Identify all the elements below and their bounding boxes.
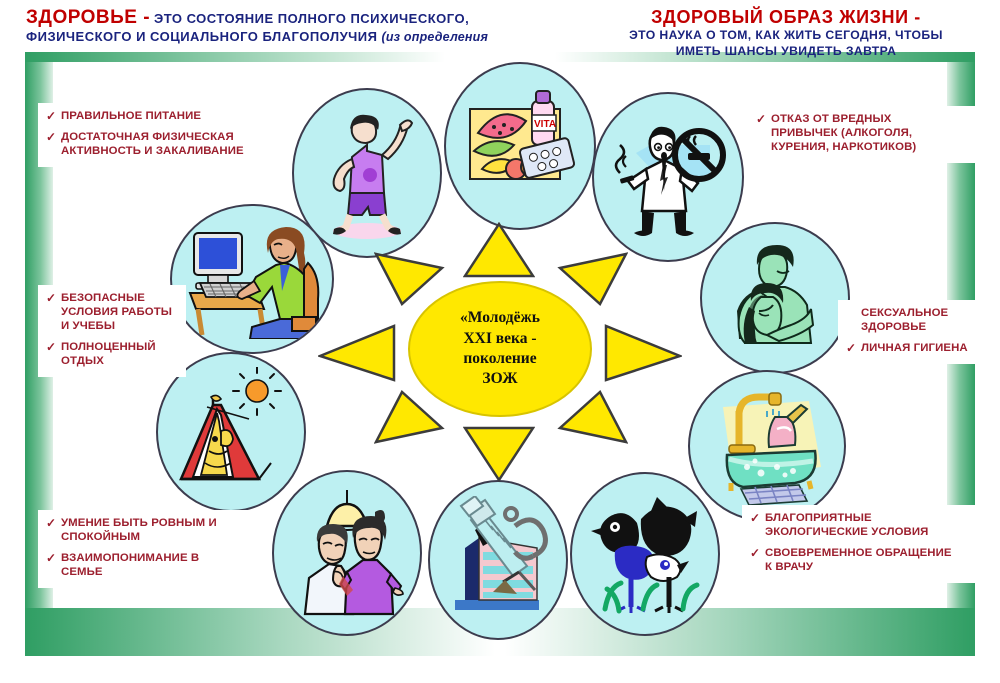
header-left-body: ЭТО СОСТОЯНИЕ ПОЛНОГО ПСИХИЧЕСКОГО, xyxy=(154,11,469,26)
bullet-item: ✓УМЕНИЕ БЫТЬ РОВНЫМ И СПОКОЙНЫМ xyxy=(46,517,243,545)
bathtub-shower-icon xyxy=(703,383,831,509)
bullet-text: ОТКАЗ ОТ ВРЕДНЫХ ПРИВЫЧЕК (АЛКОГОЛЯ, КУР… xyxy=(771,113,916,155)
panel-bottom-left-list: ✓УМЕНИЕ БЫТЬ РОВНЫМ И СПОКОЙНЫМ✓ВЗАИМОПО… xyxy=(46,517,243,580)
center-slogan: «Молодёжь XXI века - поколение ЗОЖ xyxy=(460,308,540,390)
check-icon: ✓ xyxy=(46,110,56,124)
bubble-workplace xyxy=(170,204,334,354)
check-icon: ✓ xyxy=(46,292,56,306)
arrow-down-right xyxy=(556,390,628,448)
embracing-couple-icon xyxy=(715,235,835,361)
bullet-text: БЛАГОПРИЯТНЫЕ ЭКОЛОГИЧЕСКИЕ УСЛОВИЯ xyxy=(765,512,928,540)
panel-top-left-list: ✓ПРАВИЛЬНОЕ ПИТАНИЕ✓ДОСТАТОЧНАЯ ФИЗИЧЕСК… xyxy=(46,110,280,159)
arrow-left xyxy=(318,322,396,384)
check-icon: ✓ xyxy=(46,131,56,145)
panel-top-left: ✓ПРАВИЛЬНОЕ ПИТАНИЕ✓ДОСТАТОЧНАЯ ФИЗИЧЕСК… xyxy=(38,103,290,167)
frame-bottom-right-band xyxy=(505,608,975,656)
bullet-text: УМЕНИЕ БЫТЬ РОВНЫМ И СПОКОЙНЫМ xyxy=(61,517,217,545)
arrow-up-right xyxy=(556,248,628,306)
header-left-body2: ФИЗИЧЕСКОГО И СОЦИАЛЬНОГО БЛАГОПОЛУЧИЯ xyxy=(26,29,378,44)
birds-grass-icon xyxy=(585,489,705,619)
bullet-item: ✓БЛАГОПРИЯТНЫЕ ЭКОЛОГИЧЕСКИЕ УСЛОВИЯ xyxy=(750,512,972,540)
bullet-item: ✓СЕКСУАЛЬНОЕ ЗДОРОВЬЕ xyxy=(846,307,978,335)
frame-bottom-left-band xyxy=(25,608,495,656)
arrow-down-left xyxy=(374,390,446,448)
header-left-lead: ЗДОРОВЬЕ - xyxy=(26,7,150,28)
bullet-item: ✓ПОЛНОЦЕННЫЙ ОТДЫХ xyxy=(46,341,176,369)
bullet-item: ✓ЛИЧНАЯ ГИГИЕНА xyxy=(846,342,978,356)
bullet-text: ПОЛНОЦЕННЫЙ ОТДЫХ xyxy=(61,341,156,369)
bubble-family xyxy=(272,470,422,636)
check-icon: ✓ xyxy=(846,342,856,356)
bubble-ecology xyxy=(570,472,720,636)
person-stretching-icon xyxy=(312,103,422,243)
arrow-down xyxy=(463,426,535,482)
header-right-lead: ЗДОРОВЫЙ ОБРАЗ ЖИЗНИ - xyxy=(586,7,986,28)
no-smoking-man-icon xyxy=(606,107,730,247)
bullet-item: ✓БЕЗОПАСНЫЕ УСЛОВИЯ РАБОТЫ И УЧЕБЫ xyxy=(46,292,176,334)
bullet-item: ✓СВОЕВРЕМЕННОЕ ОБРАЩЕНИЕ К ВРАЧУ xyxy=(750,547,972,575)
panel-top-right-list: ✓ОТКАЗ ОТ ВРЕДНЫХ ПРИВЫЧЕК (АЛКОГОЛЯ, КУ… xyxy=(756,113,970,155)
center-ellipse: «Молодёжь XXI века - поколение ЗОЖ xyxy=(408,281,592,417)
panel-mid-left-list: ✓БЕЗОПАСНЫЕ УСЛОВИЯ РАБОТЫ И УЧЕБЫ✓ПОЛНО… xyxy=(46,292,176,369)
bullet-item: ✓ПРАВИЛЬНОЕ ПИТАНИЕ xyxy=(46,110,280,124)
bubble-no-smoking xyxy=(592,92,744,262)
arrow-up-left xyxy=(374,248,446,306)
bubble-medical xyxy=(428,480,568,640)
camping-tent-sun-icon xyxy=(171,367,291,497)
bullet-item: ✓ДОСТАТОЧНАЯ ФИЗИЧЕСКАЯ АКТИВНОСТЬ И ЗАК… xyxy=(46,131,280,159)
header-right-line1: ЭТО НАУКА О ТОМ, КАК ЖИТЬ СЕГОДНЯ, ЧТОБЫ xyxy=(586,28,986,44)
arrow-right xyxy=(604,322,682,384)
computer-workstation-icon xyxy=(184,219,320,339)
header-left-note: (из определения xyxy=(381,30,488,44)
bubble-couple xyxy=(700,222,850,374)
header-right: ЗДОРОВЫЙ ОБРАЗ ЖИЗНИ - ЭТО НАУКА О ТОМ, … xyxy=(586,7,986,59)
svg-text:VITA: VITA xyxy=(534,119,556,130)
header-right-line2: ИМЕТЬ ШАНСЫ УВИДЕТЬ ЗАВТРА xyxy=(586,44,986,60)
bullet-item: ✓ОТКАЗ ОТ ВРЕДНЫХ ПРИВЫЧЕК (АЛКОГОЛЯ, КУ… xyxy=(756,113,970,155)
hospital-syringe-stethoscope-icon xyxy=(441,496,555,624)
talking-couple-lamp-icon xyxy=(287,486,407,620)
bullet-text: СЕКСУАЛЬНОЕ ЗДОРОВЬЕ xyxy=(861,307,948,335)
bullet-text: ДОСТАТОЧНАЯ ФИЗИЧЕСКАЯ АКТИВНОСТЬ И ЗАКА… xyxy=(61,131,244,159)
panel-mid-right: ✓СЕКСУАЛЬНОЕ ЗДОРОВЬЕ✓ЛИЧНАЯ ГИГИЕНА xyxy=(838,300,988,364)
bubble-nutrition: VITA xyxy=(444,62,596,230)
check-icon: ✓ xyxy=(756,113,766,127)
frame-top-left-band xyxy=(25,52,445,62)
bullet-text: ЛИЧНАЯ ГИГИЕНА xyxy=(861,342,968,356)
panel-top-right: ✓ОТКАЗ ОТ ВРЕДНЫХ ПРИВЫЧЕК (АЛКОГОЛЯ, КУ… xyxy=(748,106,980,163)
healthy-food-vitamins-icon: VITA xyxy=(460,81,580,211)
header-left: ЗДОРОВЬЕ - ЭТО СОСТОЯНИЕ ПОЛНОГО ПСИХИЧЕ… xyxy=(26,7,488,45)
panel-bottom-right: ✓БЛАГОПРИЯТНЫЕ ЭКОЛОГИЧЕСКИЕ УСЛОВИЯ✓СВО… xyxy=(742,505,982,583)
bullet-text: ПРАВИЛЬНОЕ ПИТАНИЕ xyxy=(61,110,201,124)
arrow-up xyxy=(463,222,535,278)
check-icon: ✓ xyxy=(46,517,56,531)
bullet-text: ВЗАИМОПОНИМАНИЕ В СЕМЬЕ xyxy=(61,552,199,580)
check-icon: ✓ xyxy=(750,512,760,526)
check-icon: ✓ xyxy=(46,552,56,566)
check-icon: ✓ xyxy=(46,341,56,355)
poster-canvas: ЗДОРОВЬЕ - ЭТО СОСТОЯНИЕ ПОЛНОГО ПСИХИЧЕ… xyxy=(0,0,1000,683)
bullet-text: СВОЕВРЕМЕННОЕ ОБРАЩЕНИЕ К ВРАЧУ xyxy=(765,547,952,575)
check-icon: ✓ xyxy=(750,547,760,561)
panel-bottom-right-list: ✓БЛАГОПРИЯТНЫЕ ЭКОЛОГИЧЕСКИЕ УСЛОВИЯ✓СВО… xyxy=(750,512,972,575)
panel-mid-right-list: ✓СЕКСУАЛЬНОЕ ЗДОРОВЬЕ✓ЛИЧНАЯ ГИГИЕНА xyxy=(846,307,978,356)
panel-mid-left: ✓БЕЗОПАСНЫЕ УСЛОВИЯ РАБОТЫ И УЧЕБЫ✓ПОЛНО… xyxy=(38,285,186,377)
bullet-item: ✓ВЗАИМОПОНИМАНИЕ В СЕМЬЕ xyxy=(46,552,243,580)
bullet-text: БЕЗОПАСНЫЕ УСЛОВИЯ РАБОТЫ И УЧЕБЫ xyxy=(61,292,172,334)
bubble-hygiene xyxy=(688,370,846,522)
panel-bottom-left: ✓УМЕНИЕ БЫТЬ РОВНЫМ И СПОКОЙНЫМ✓ВЗАИМОПО… xyxy=(38,510,253,588)
